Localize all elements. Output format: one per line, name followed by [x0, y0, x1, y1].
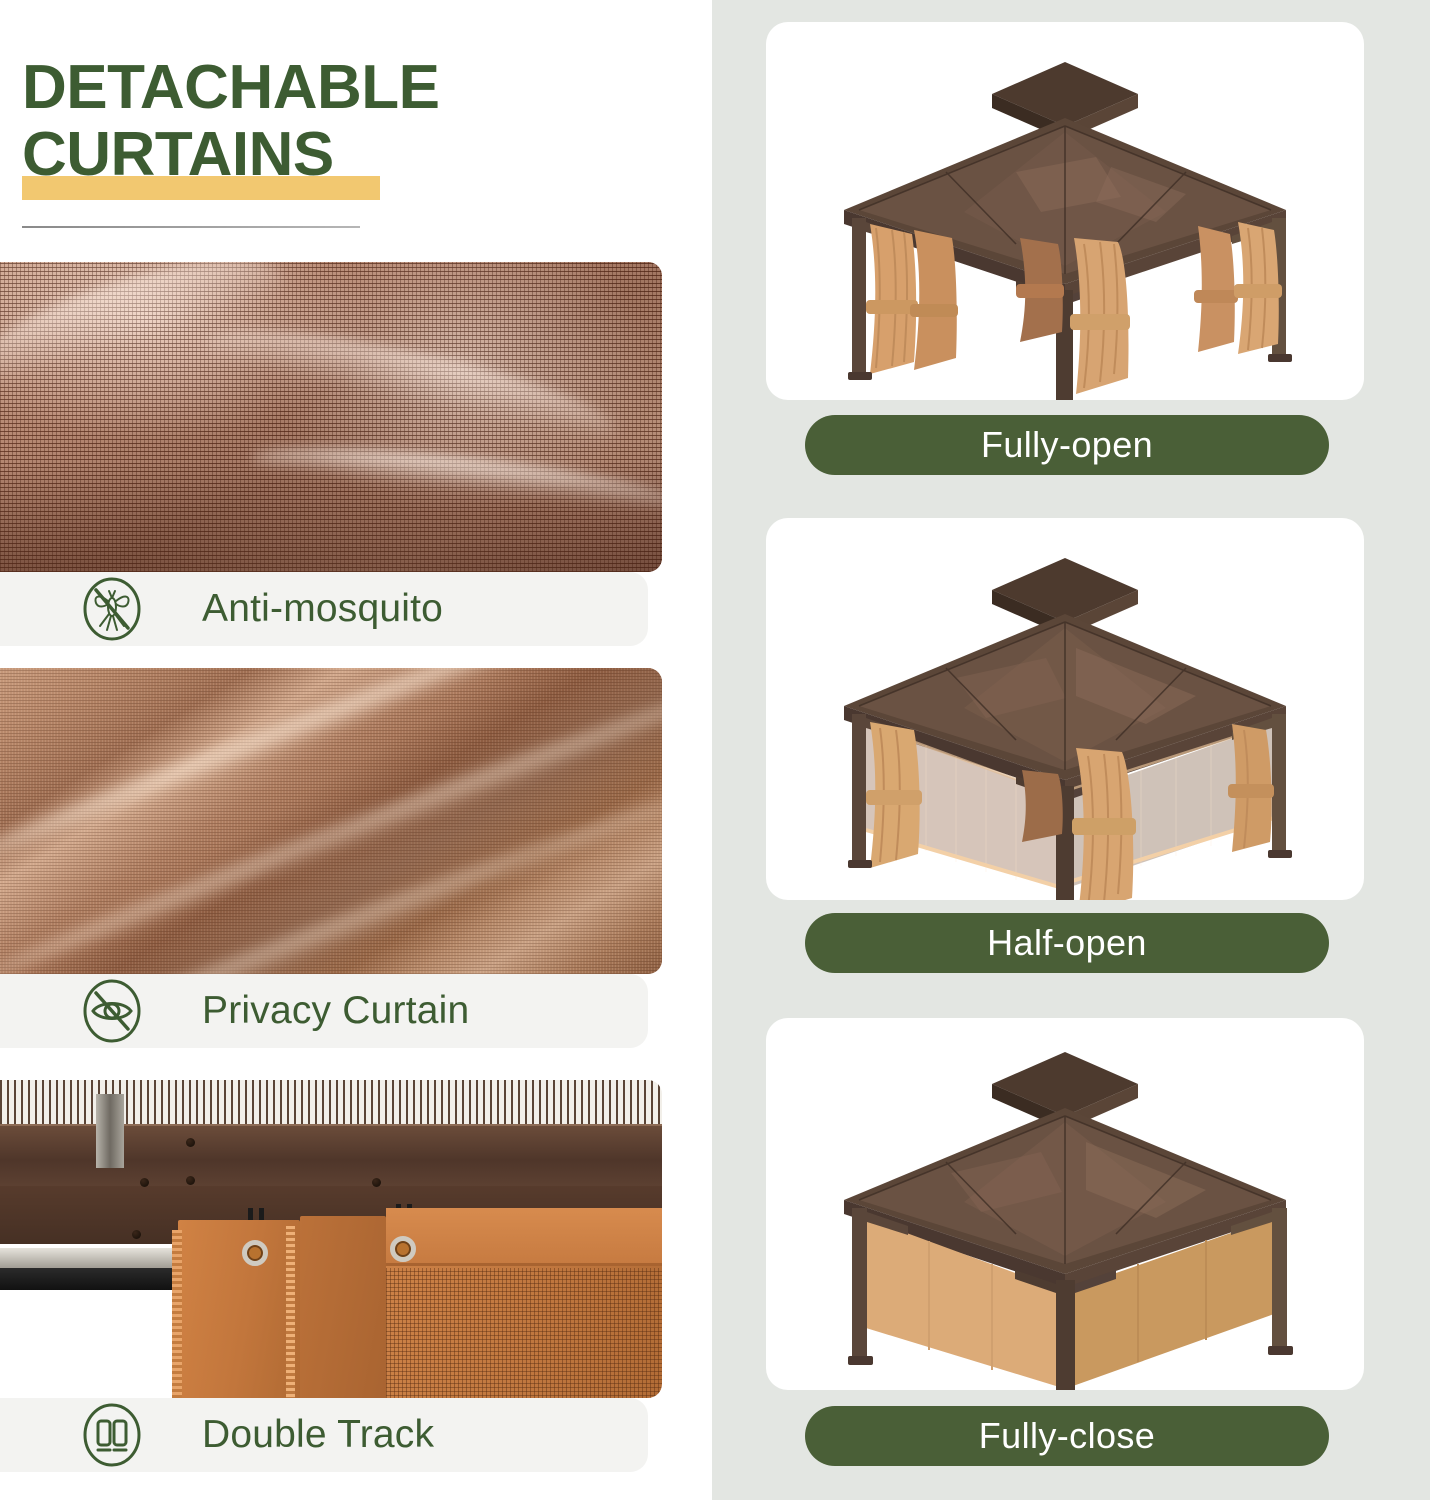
mesh-fabric-photo — [0, 262, 662, 572]
gazebo-card-half-open — [766, 518, 1364, 900]
feature-label-double-track: Double Track — [0, 1398, 648, 1472]
feature-label-privacy-curtain: Privacy Curtain — [0, 974, 648, 1048]
title-line-2: CURTAINS — [22, 125, 662, 186]
curtain-track-photo — [0, 1080, 662, 1398]
state-pill-fully-open[interactable]: Fully-open — [805, 415, 1329, 475]
title-divider — [22, 226, 360, 228]
feature-label-text: Privacy Curtain — [202, 989, 469, 1033]
title-line-1: DETACHABLE — [22, 58, 662, 119]
feature-label-text: Double Track — [202, 1413, 434, 1457]
state-pill-label: Half-open — [987, 922, 1147, 964]
infographic-page: DETACHABLE CURTAINS — [0, 0, 1430, 1500]
gazebo-card-fully-open — [766, 22, 1364, 400]
state-pill-label: Fully-open — [981, 424, 1153, 466]
eye-off-icon — [80, 979, 144, 1043]
state-pill-half-open[interactable]: Half-open — [805, 913, 1329, 973]
state-pill-label: Fully-close — [979, 1415, 1155, 1457]
gazebo-curtains-tied-back-illustration — [766, 22, 1364, 400]
feature-label-anti-mosquito: Anti-mosquito — [0, 572, 648, 646]
page-title: DETACHABLE CURTAINS — [22, 58, 662, 186]
feature-block-double-track: Double Track — [0, 1080, 662, 1472]
gazebo-card-fully-close — [766, 1018, 1364, 1390]
state-pill-fully-close[interactable]: Fully-close — [805, 1406, 1329, 1466]
feature-label-text: Anti-mosquito — [202, 587, 443, 631]
gazebo-mesh-netting-illustration — [766, 518, 1364, 900]
solid-fabric-photo — [0, 668, 662, 974]
mosquito-blocked-icon — [80, 577, 144, 641]
feature-block-anti-mosquito: Anti-mosquito — [0, 262, 662, 646]
double-panel-icon — [80, 1403, 144, 1467]
feature-block-privacy-curtain: Privacy Curtain — [0, 668, 662, 1048]
left-column: DETACHABLE CURTAINS — [0, 0, 712, 1500]
gazebo-closed-curtains-illustration — [766, 1018, 1364, 1390]
